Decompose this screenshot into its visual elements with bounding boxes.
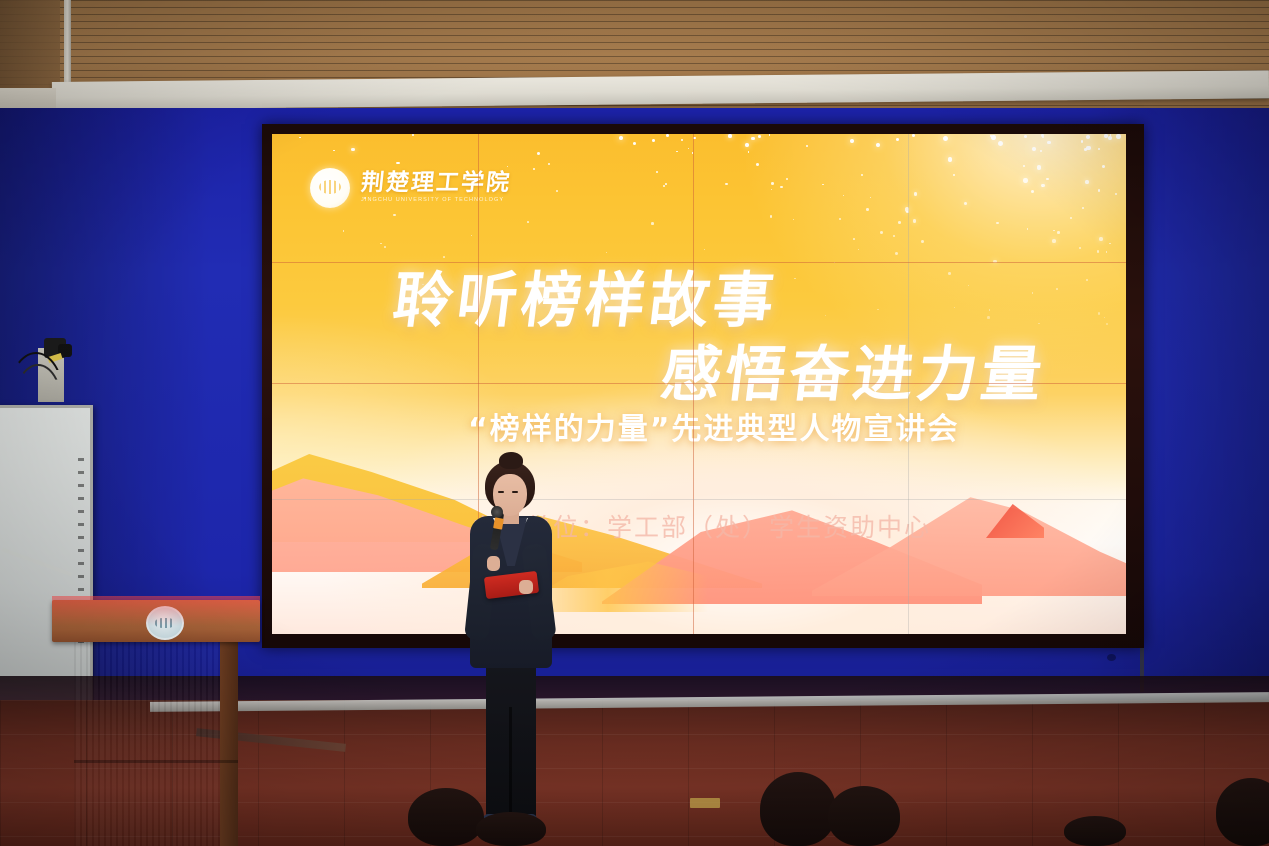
sparkle-particle — [393, 214, 396, 217]
speaker-hand-right — [519, 580, 533, 594]
sparkle-particle — [351, 148, 355, 152]
sparkle-particle — [704, 249, 705, 250]
speaker-hair-bun — [499, 452, 523, 469]
university-name-cn: 荆楚理工学院 — [360, 172, 512, 195]
sparkle-particle — [665, 183, 667, 185]
podium-red-light-glow — [52, 596, 260, 626]
sparkle-particle — [663, 185, 665, 187]
audience-head — [1064, 816, 1126, 846]
speaker-hand-left — [487, 556, 500, 571]
sparkle-particle — [619, 136, 623, 140]
audience-head — [760, 772, 836, 846]
panel-seam-vertical-3 — [908, 134, 909, 634]
sparkle-particle — [299, 137, 301, 139]
sparkle-particle — [527, 221, 529, 223]
sparkle-particle — [681, 139, 683, 141]
sparkle-particle — [656, 171, 658, 173]
led-screen: 荆楚理工学院 JINGCHU UNIVERSITY OF TECHNOLOGY … — [272, 134, 1126, 634]
panel-seam-horizontal-3 — [272, 499, 1126, 500]
sparkle-particle — [412, 134, 414, 136]
sparkle-particle — [537, 152, 540, 155]
audience-head — [408, 788, 484, 846]
lecture-hall-photo: 荆楚理工学院 JINGCHU UNIVERSITY OF TECHNOLOGY … — [0, 0, 1269, 846]
sparkle-particle — [384, 246, 386, 248]
sparkle-particle — [396, 162, 399, 165]
sparkle-particle — [343, 230, 345, 232]
sparkle-particle — [728, 134, 732, 138]
sparkle-particle — [556, 190, 558, 192]
sparkle-particle — [666, 134, 669, 137]
sparkle-particle — [380, 243, 382, 245]
speaker-eye-left — [498, 491, 504, 493]
panel-seam-vertical-2 — [693, 134, 694, 634]
university-seal-icon — [310, 168, 350, 208]
speaker-eye-right — [512, 491, 518, 493]
sparkle-particle — [725, 183, 728, 186]
floor-marker-tape — [690, 798, 720, 808]
podium-panel-seam — [74, 760, 238, 763]
university-logo-text: 荆楚理工学院 JINGCHU UNIVERSITY OF TECHNOLOGY — [361, 172, 511, 204]
sparkle-particle — [333, 150, 334, 151]
sparkle-particle — [688, 148, 689, 149]
audience-head — [828, 786, 900, 846]
sparkle-particle — [676, 151, 678, 153]
wooden-podium — [52, 600, 260, 846]
sparkle-particle — [652, 139, 655, 142]
panel-seam-horizontal-1 — [272, 262, 1126, 263]
microphone-flag — [493, 517, 504, 529]
headline-line-2: 感悟奋进力量 — [657, 326, 1052, 413]
university-name-en: JINGCHU UNIVERSITY OF TECHNOLOGY — [361, 198, 511, 204]
sparkle-particle — [651, 222, 654, 225]
sparkle-particle — [548, 163, 550, 165]
podium-body — [74, 640, 238, 846]
wall-blemish — [1107, 654, 1116, 661]
university-logo: 荆楚理工学院 JINGCHU UNIVERSITY OF TECHNOLOGY — [310, 168, 511, 208]
ceiling-support-post — [64, 0, 71, 92]
microphone-head-icon — [491, 506, 503, 518]
podium-side-panel — [220, 640, 238, 846]
speaker-person — [455, 452, 565, 846]
sparkle-particle — [397, 162, 400, 165]
sparkle-particle — [533, 168, 535, 170]
event-subtitle: “榜样的力量”先进典型人物宣讲会 — [468, 404, 959, 448]
panel-seam-horizontal-2 — [272, 383, 1126, 384]
sparkle-particle — [633, 142, 636, 145]
speaker-trouser-seam — [509, 707, 512, 819]
audience-head — [476, 812, 546, 846]
sparkle-particle — [471, 235, 472, 236]
